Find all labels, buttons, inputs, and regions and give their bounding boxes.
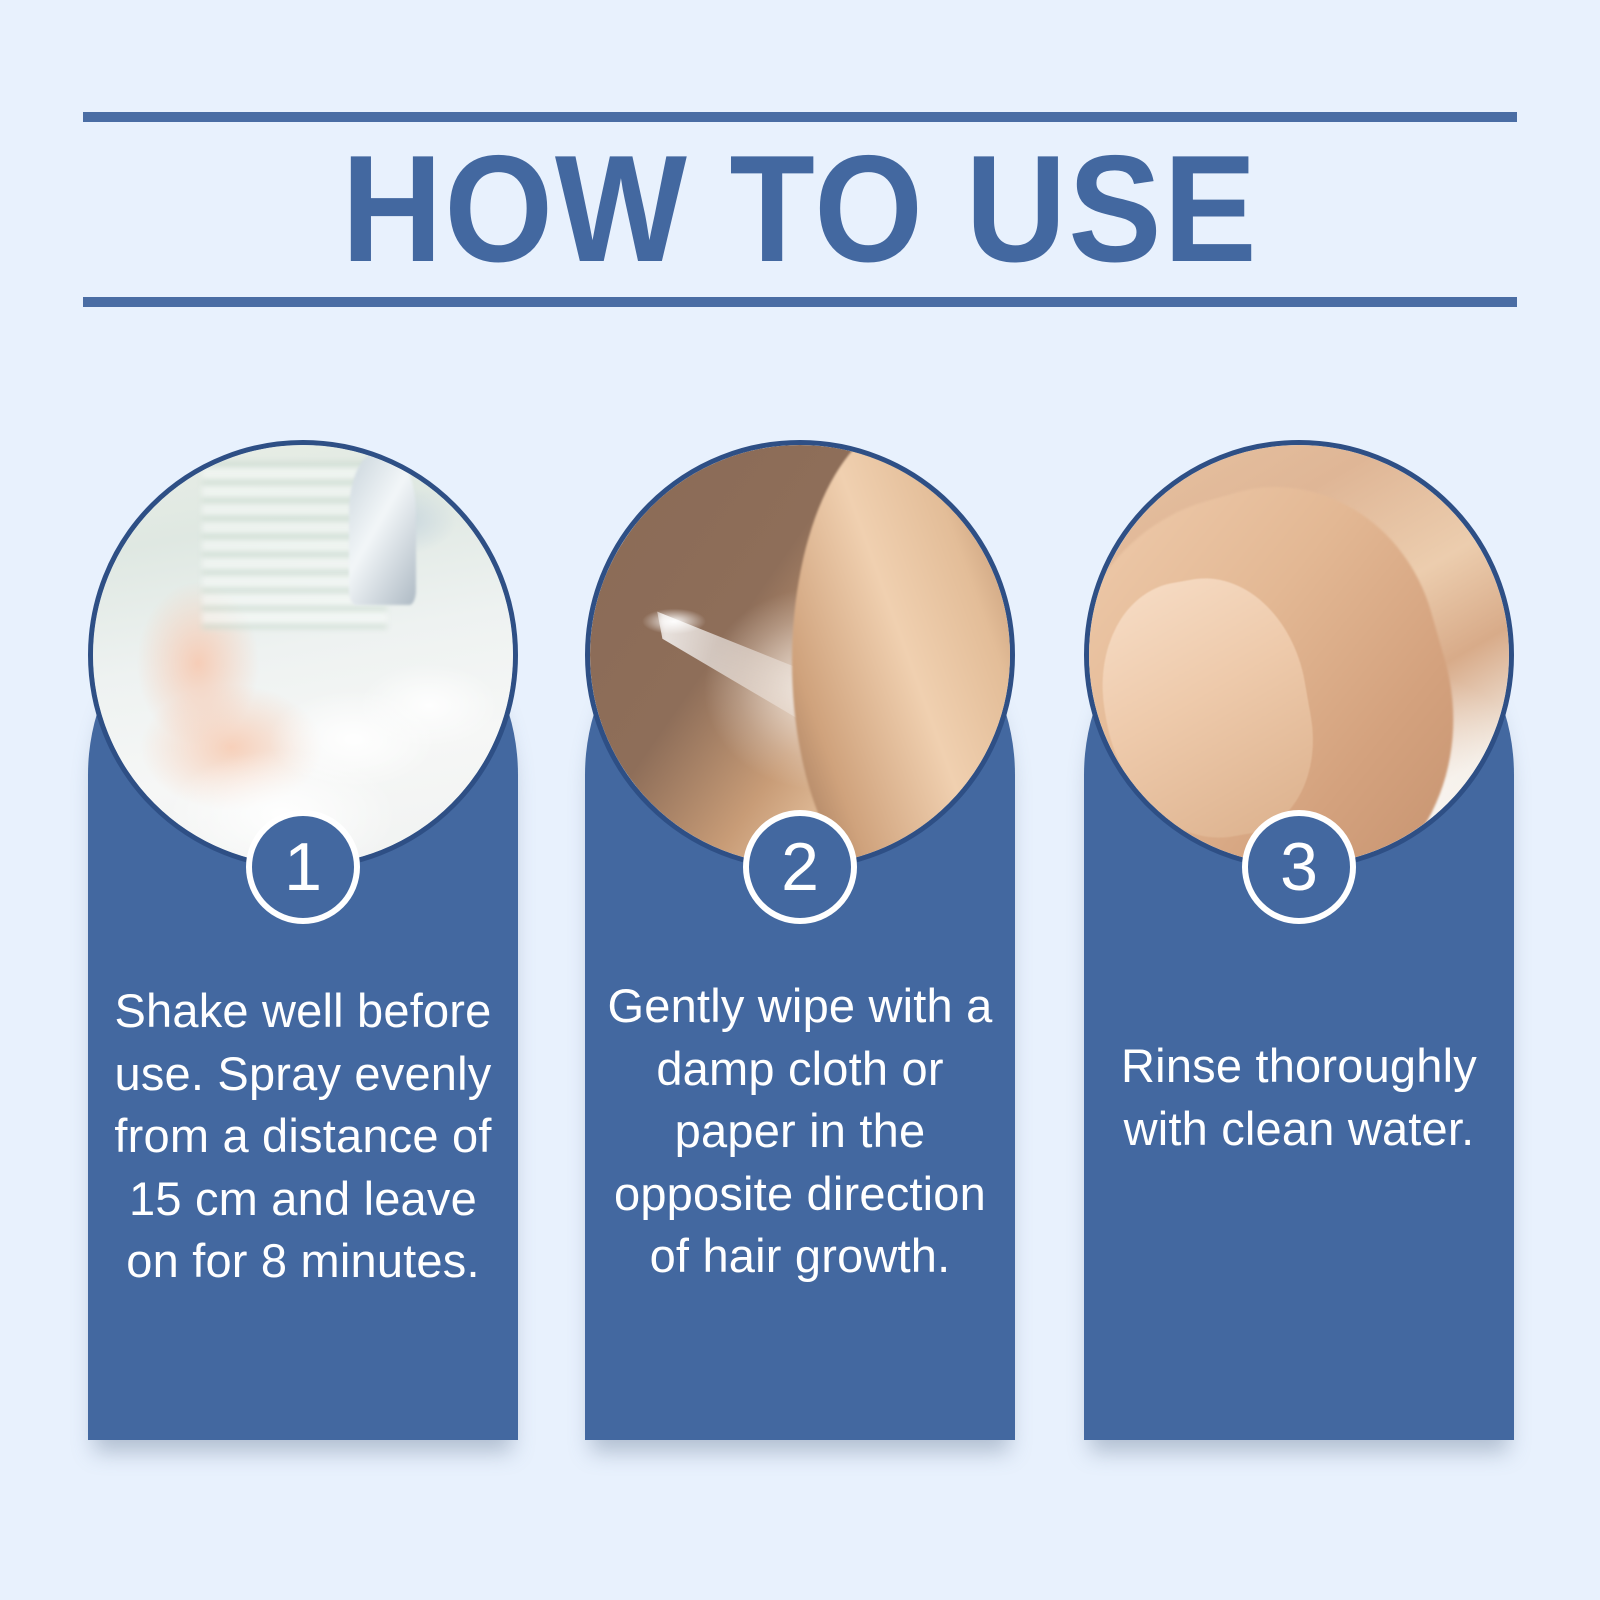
step-number-badge-2: 2 [743,810,857,924]
step-card-1[interactable]: 1 Shake well before use. Spray evenly fr… [88,560,518,1440]
step-caption-3: Rinse thoroughly with clean water. [1102,1035,1496,1160]
spray-on-skin-photo [590,445,1010,865]
step-card-3[interactable]: 3 Rinse thoroughly with clean water. [1084,560,1514,1440]
step-photo-3 [1084,440,1514,870]
step-card-2[interactable]: 2 Gently wipe with a damp cloth or paper… [585,560,1015,1440]
step-number-badge-1: 1 [246,810,360,924]
steps-container: 1 Shake well before use. Spray evenly fr… [0,0,1600,1600]
step-caption-2: Gently wipe with a damp cloth or paper i… [603,975,997,1288]
smooth-legs-photo [1089,445,1509,865]
step-caption-1: Shake well before use. Spray evenly from… [106,980,500,1293]
step-photo-1 [88,440,518,870]
foot-in-bubble-bath-photo [93,445,513,865]
step-number-badge-3: 3 [1242,810,1356,924]
step-photo-2 [585,440,1015,870]
